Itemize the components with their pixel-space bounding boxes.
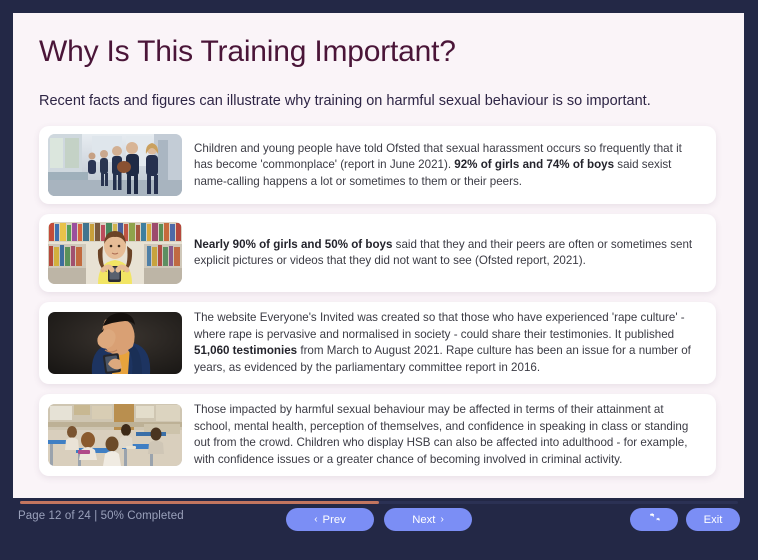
player-actions: Exit [630, 508, 740, 531]
exit-button[interactable]: Exit [686, 508, 740, 531]
fact-card: Nearly 90% of girls and 50% of boys said… [39, 214, 716, 292]
cogs-icon [646, 512, 663, 528]
fact-card-text: Children and young people have told Ofst… [194, 141, 706, 190]
fact-text-highlight: 92% of girls and 74% of boys [454, 158, 614, 171]
next-button[interactable]: Next › [384, 508, 472, 531]
page-status-text: Page 12 of 24 | 50% Completed [18, 510, 184, 522]
page-title: Why Is This Training Important? [39, 35, 716, 70]
chevron-left-icon: ‹ [314, 515, 317, 525]
course-progress-fill [20, 501, 379, 504]
player-footer: Page 12 of 24 | 50% Completed ‹ Prev Nex… [0, 498, 758, 560]
girl-with-phone-in-library-photo [48, 222, 182, 284]
course-player: Why Is This Training Important? Recent f… [0, 0, 758, 560]
slide-subtitle: Recent facts and figures can illustrate … [39, 92, 716, 111]
slide-content: Why Is This Training Important? Recent f… [13, 13, 744, 476]
fact-text-highlight: 51,060 testimonies [194, 344, 297, 357]
fact-card: Children and young people have told Ofst… [39, 126, 716, 204]
fact-text-part: Those impacted by harmful sexual behavio… [194, 403, 688, 465]
fact-card-text: The website Everyone's Invited was creat… [194, 310, 706, 376]
schoolgirls-walking-corridor-photo [48, 134, 182, 196]
prev-button[interactable]: ‹ Prev [286, 508, 374, 531]
slide-canvas: Why Is This Training Important? Recent f… [13, 13, 744, 498]
fact-card-list: Children and young people have told Ofst… [39, 126, 716, 476]
exit-button-label: Exit [704, 514, 723, 526]
fact-text-part: The website Everyone's Invited was creat… [194, 311, 685, 340]
next-button-label: Next [412, 514, 435, 526]
fact-card: The website Everyone's Invited was creat… [39, 302, 716, 384]
chevron-right-icon: › [440, 515, 443, 525]
distressed-teen-boy-with-phone-photo [48, 312, 182, 374]
classroom-children-at-desks-photo [48, 404, 182, 466]
slide-navigation: ‹ Prev Next › [286, 508, 472, 531]
fact-card-text: Nearly 90% of girls and 50% of boys said… [194, 237, 706, 270]
prev-button-label: Prev [323, 514, 346, 526]
course-progress-bar [20, 501, 738, 504]
fact-card: Those impacted by harmful sexual behavio… [39, 394, 716, 476]
fact-card-text: Those impacted by harmful sexual behavio… [194, 402, 706, 468]
settings-button[interactable] [630, 508, 678, 531]
fact-text-highlight: Nearly 90% of girls and 50% of boys [194, 238, 392, 251]
